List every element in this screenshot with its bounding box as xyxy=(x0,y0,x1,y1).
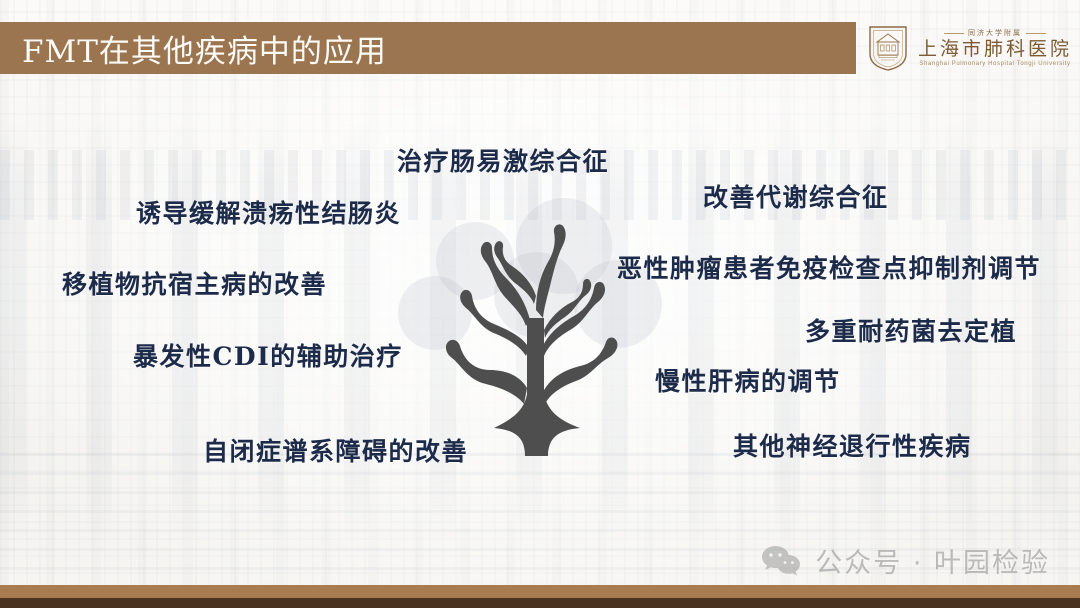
disease-item-6: 多重耐药菌去定植 xyxy=(805,312,1017,348)
disease-item-9: 自闭症谱系障碍的改善 xyxy=(203,432,468,468)
logo-rule-left xyxy=(944,33,964,34)
page-title: FMT在其他疾病中的应用 xyxy=(0,26,387,71)
logo-wordmark: 同济大学附属 上海市肺科医院 Shanghai Pulmonary Hospit… xyxy=(918,30,1072,67)
disease-item-4: 恶性肿瘤患者免疫检查点抑制剂调节 xyxy=(617,249,1041,285)
hospital-shield-crest-icon xyxy=(868,24,908,72)
title-banner: FMT在其他疾病中的应用 xyxy=(0,22,856,74)
footer-light-bar xyxy=(0,585,1080,598)
logo-english-name: Shanghai Pulmonary Hospital Tongji Unive… xyxy=(919,61,1070,67)
footer-dark-bar xyxy=(0,598,1080,608)
disease-item-10: 其他神经退行性疾病 xyxy=(733,427,972,463)
bare-tree-icon xyxy=(398,198,688,460)
wechat-icon xyxy=(761,544,801,578)
tree-illustration xyxy=(398,198,688,460)
logo-affiliation-row: 同济大学附属 xyxy=(918,30,1072,37)
disease-item-2: 改善代谢综合征 xyxy=(703,178,889,214)
logo-rule-right xyxy=(1026,33,1046,34)
disease-item-3: 诱导缓解溃疡性结肠炎 xyxy=(136,194,401,230)
watermark-text: 公众号 · 叶园检验 xyxy=(815,541,1050,580)
disease-item-7: 暴发性CDI的辅助治疗 xyxy=(133,337,403,373)
logo-affiliation: 同济大学附属 xyxy=(968,30,1022,37)
wechat-watermark: 公众号 · 叶园检验 xyxy=(761,541,1050,580)
disease-item-1: 治疗肠易激综合征 xyxy=(397,142,609,178)
disease-item-5: 移植物抗宿主病的改善 xyxy=(62,265,327,301)
logo-hospital-name: 上海市肺科医院 xyxy=(918,40,1072,59)
disease-item-8: 慢性肝病的调节 xyxy=(655,362,841,398)
slide-root: FMT在其他疾病中的应用 同济大学附属 上海市肺科医院 Shanghai Pul… xyxy=(0,0,1080,608)
hospital-logo: 同济大学附属 上海市肺科医院 Shanghai Pulmonary Hospit… xyxy=(868,20,1072,76)
